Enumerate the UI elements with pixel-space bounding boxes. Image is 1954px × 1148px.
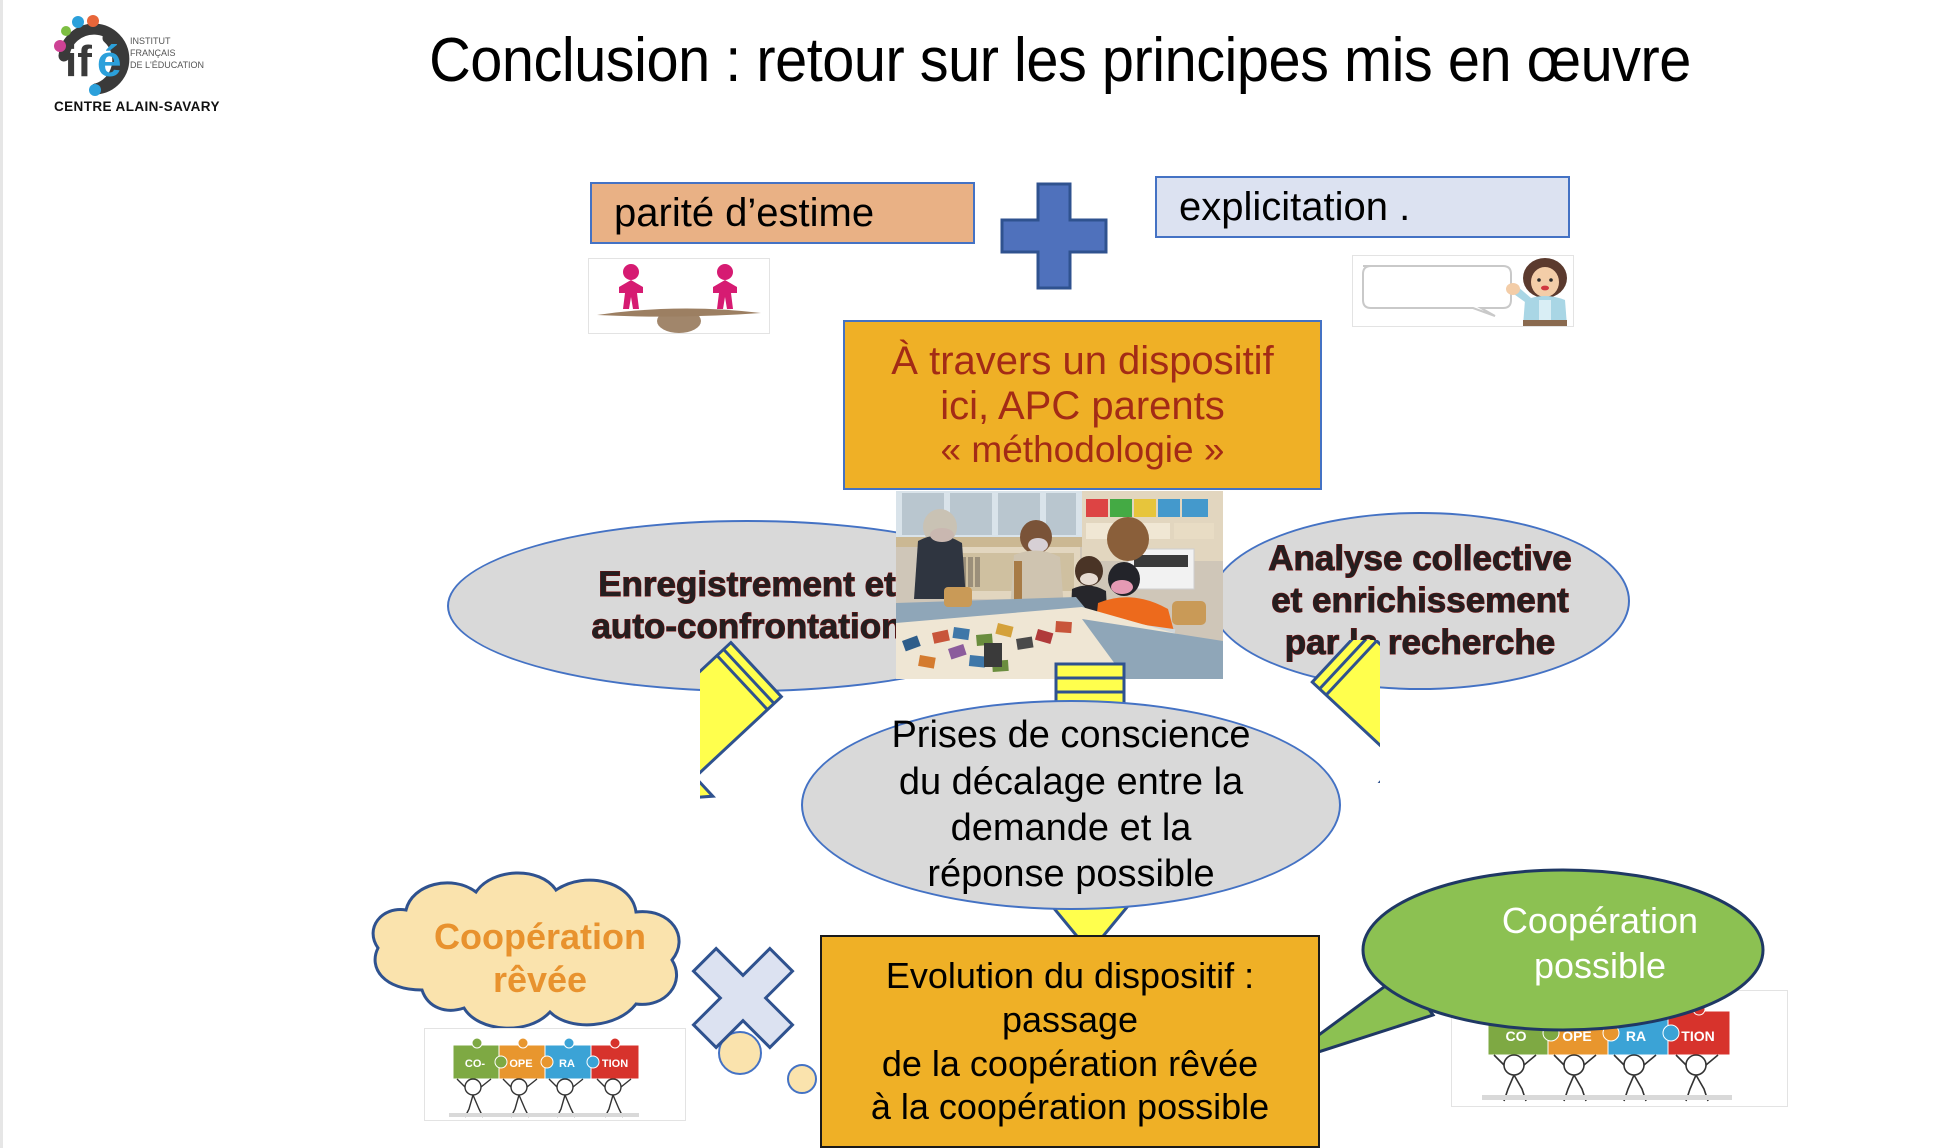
dispositif-line-2: ici, APC parents: [940, 384, 1225, 429]
evolution-line-3: de la coopération rêvée: [882, 1042, 1258, 1086]
plus-sign-icon: [1000, 182, 1108, 290]
cloud-label-line-2: rêvée: [400, 958, 680, 1001]
green-bubble-line-2: possible: [1455, 943, 1745, 988]
ellipse-right-line-3: par la recherche: [1285, 622, 1555, 664]
parity-seesaw-image: [588, 258, 770, 334]
green-bubble-label: Coopération possible: [1455, 898, 1745, 988]
ife-logo: if é INSTITUT FRANÇAIS DE L'ÉDUCATION CE…: [40, 8, 220, 123]
explicitation-box: explicitation .: [1155, 176, 1570, 238]
evolution-line-1: Evolution du dispositif :: [886, 954, 1254, 998]
ellipse-right-line-1: Analyse collective: [1268, 538, 1572, 580]
x-mark-icon: [683, 938, 803, 1058]
slide-left-edge: [0, 0, 3, 1148]
ellipse-center-line-3: demande et la: [951, 805, 1192, 851]
svg-text:if: if: [65, 37, 92, 86]
ellipse-center-line-2: du décalage entre la: [899, 759, 1243, 805]
evolution-line-4: à la coopération possible: [871, 1085, 1269, 1129]
ellipse-right-line-2: et enrichissement: [1271, 580, 1569, 622]
slide-title: Conclusion : retour sur les principes mi…: [335, 28, 1786, 93]
cloud-label-line-1: Coopération: [400, 915, 680, 958]
svg-text:FRANÇAIS: FRANÇAIS: [130, 48, 176, 58]
thought-bubble-dot-2: [787, 1064, 817, 1094]
svg-text:é: é: [97, 37, 121, 86]
evolution-line-2: passage: [1002, 998, 1138, 1042]
cloud-label: Coopération rêvée: [400, 915, 680, 1001]
cooperation-puzzle-image-left: CO-OPE RATION: [424, 1028, 686, 1121]
teacher-explanation-image: [1352, 255, 1574, 327]
green-bubble-line-1: Coopération: [1455, 898, 1745, 943]
ellipse-center-line-4: réponse possible: [927, 851, 1214, 897]
explicitation-label: explicitation .: [1179, 185, 1568, 230]
svg-text:RA: RA: [559, 1058, 575, 1070]
dispositif-line-3: « méthodologie »: [941, 429, 1225, 470]
dispositif-box: À travers un dispositif ici, APC parents…: [843, 320, 1322, 490]
ife-logo-graphic: if é INSTITUT FRANÇAIS DE L'ÉDUCATION CE…: [40, 8, 220, 123]
svg-text:CO-: CO-: [465, 1058, 486, 1070]
svg-text:DE L'ÉDUCATION: DE L'ÉDUCATION: [130, 60, 204, 70]
evolution-dispositif-box: Evolution du dispositif : passage de la …: [820, 935, 1320, 1148]
svg-text:TION: TION: [602, 1058, 628, 1070]
ellipse-left-line-1: Enregistrement et: [598, 564, 896, 606]
ellipse-left-line-2: auto-confrontation: [591, 606, 902, 648]
parite-destime-box: parité d’estime: [590, 182, 975, 244]
ellipse-center-line-1: Prises de conscience: [891, 712, 1250, 758]
ellipse-analyse-collective: Analyse collective et enrichissement par…: [1210, 512, 1630, 690]
slide-canvas: if é INSTITUT FRANÇAIS DE L'ÉDUCATION CE…: [0, 0, 1954, 1148]
dispositif-line-1: À travers un dispositif: [891, 339, 1273, 384]
parite-destime-label: parité d’estime: [614, 191, 973, 236]
svg-text:INSTITUT: INSTITUT: [130, 36, 171, 46]
svg-text:OPE: OPE: [509, 1058, 532, 1070]
svg-text:CENTRE ALAIN-SAVARY: CENTRE ALAIN-SAVARY: [54, 99, 220, 114]
classroom-workshop-photo: [896, 491, 1223, 679]
ellipse-prises-de-conscience: Prises de conscience du décalage entre l…: [801, 700, 1341, 910]
